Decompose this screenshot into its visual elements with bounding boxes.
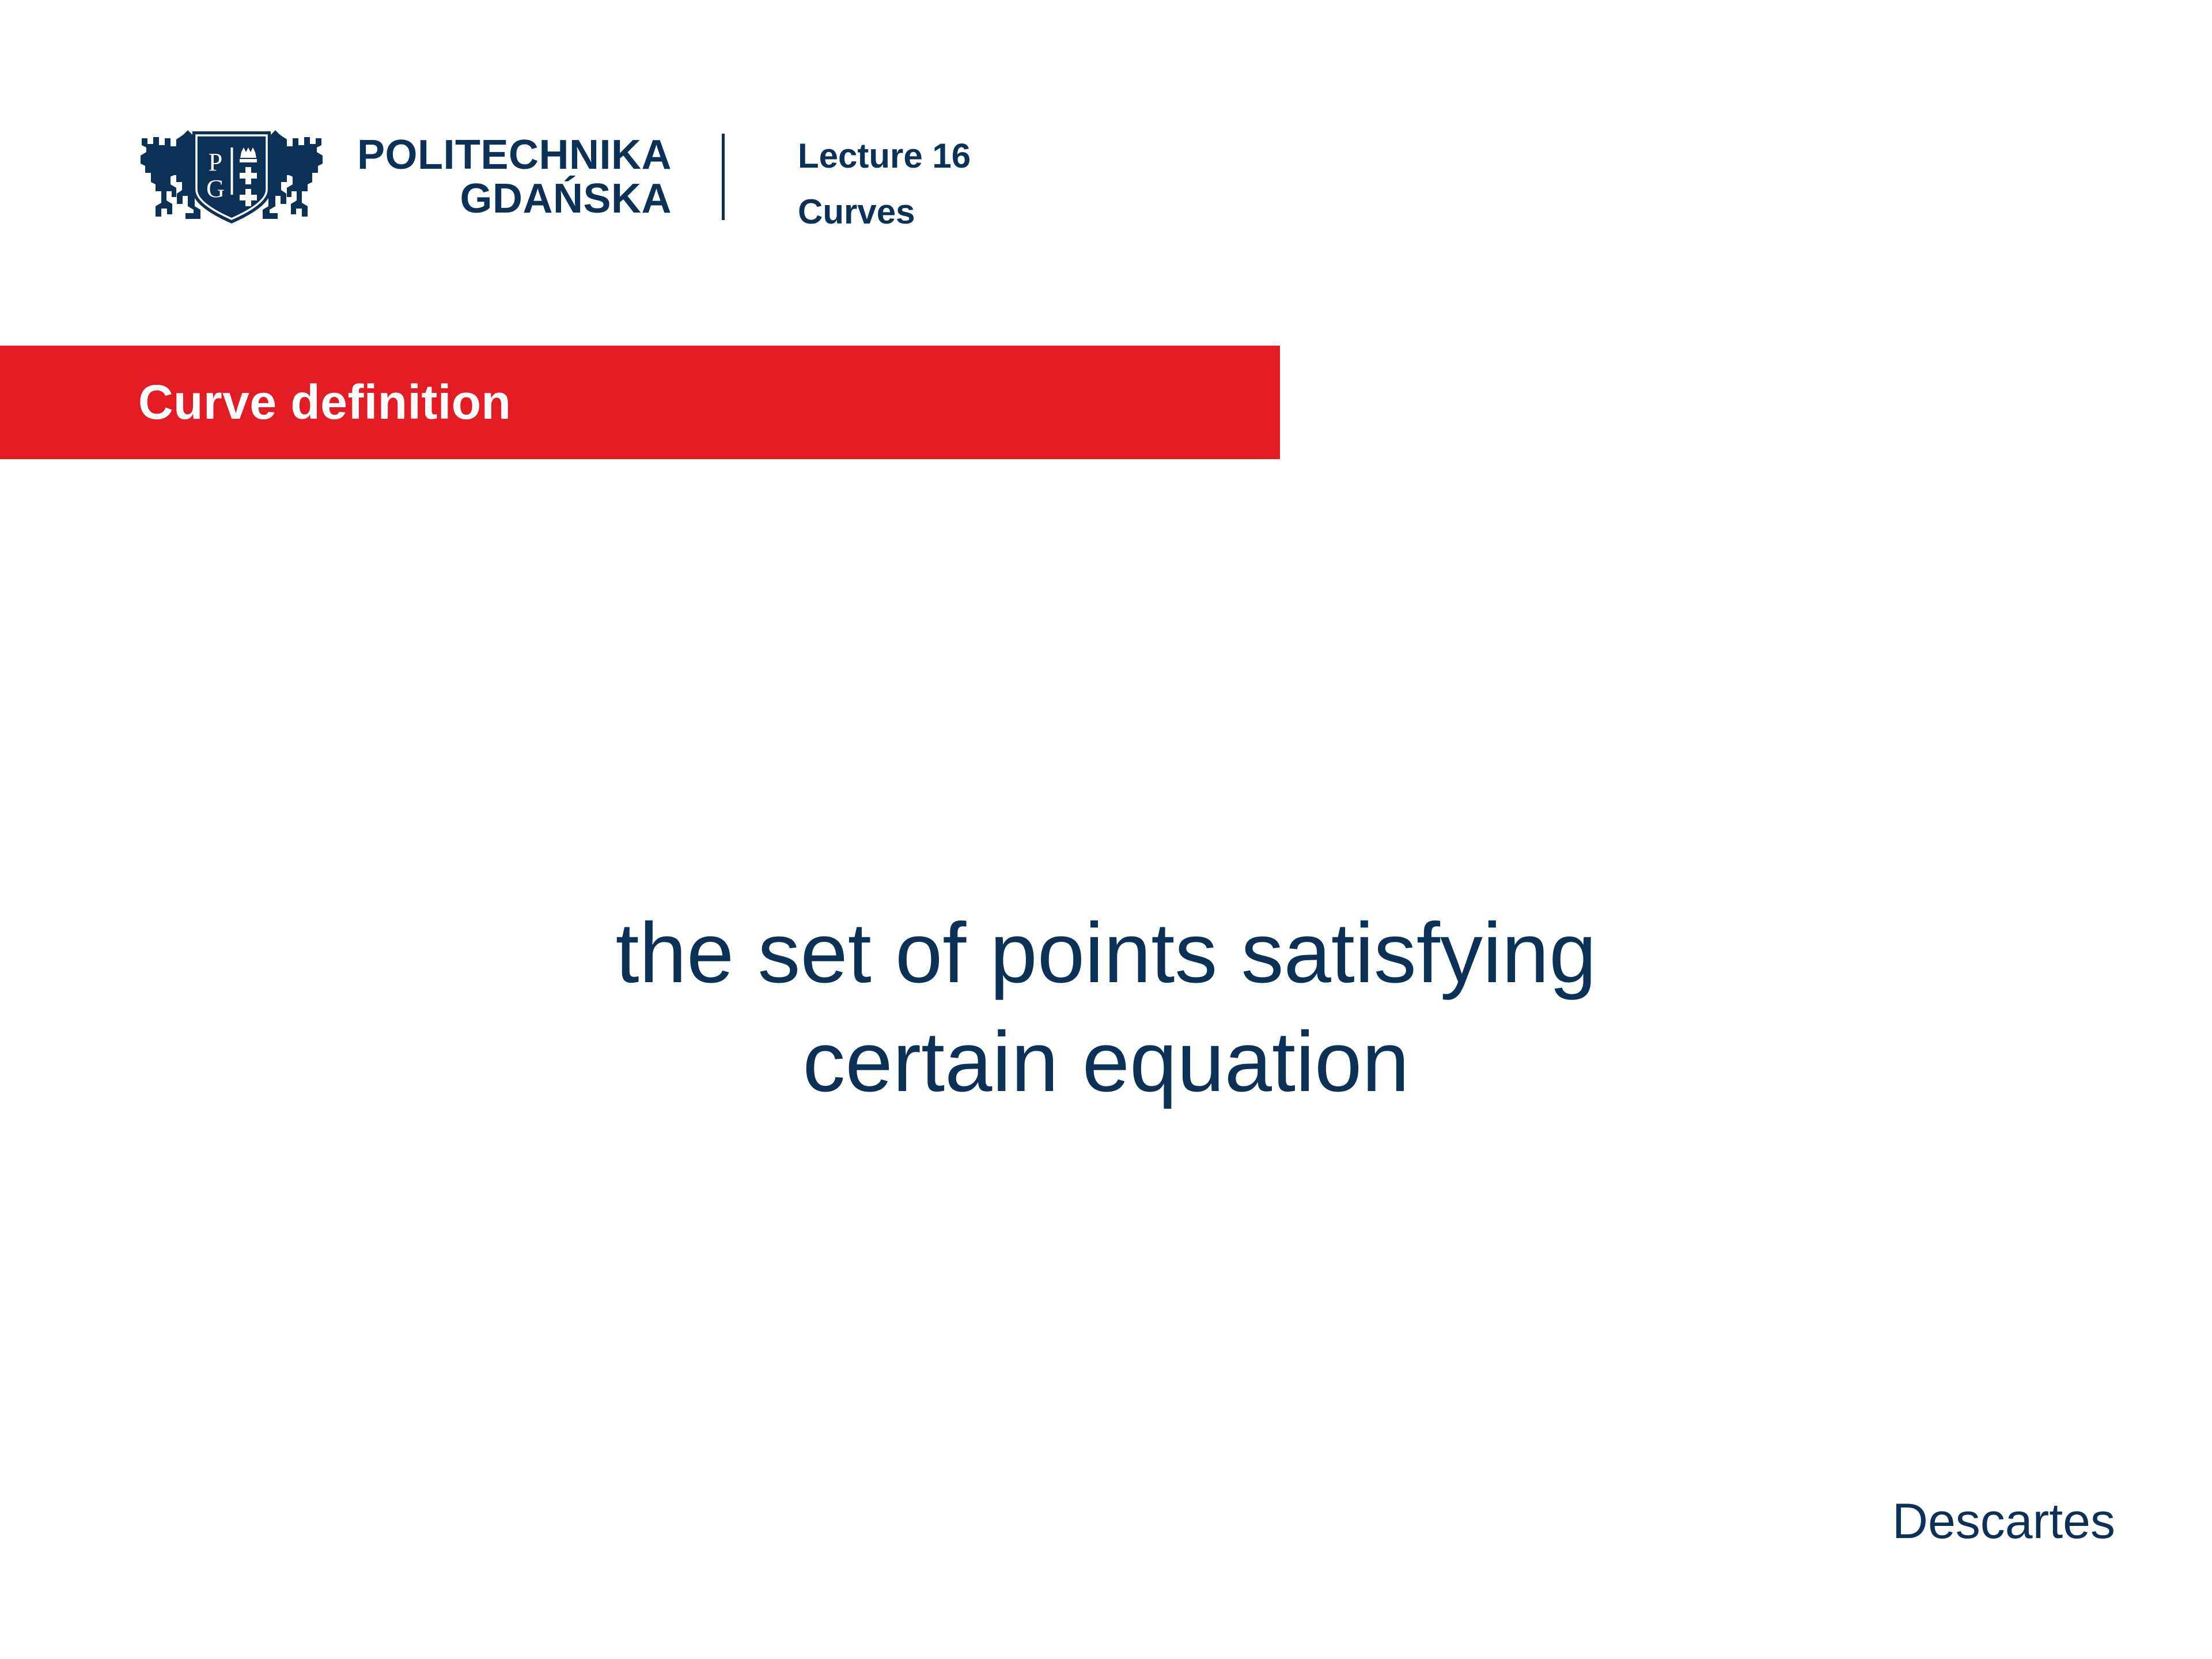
wordmark-line-1: POLITECHNIKA bbox=[357, 133, 672, 177]
shield-letter-p: P bbox=[209, 148, 222, 176]
pg-crest-logo: P G bbox=[128, 122, 335, 232]
shield-letter-g: G bbox=[206, 175, 225, 203]
university-wordmark: POLITECHNIKA GDAŃSKA bbox=[357, 133, 672, 221]
lecture-topic: Curves bbox=[798, 184, 971, 240]
slide-header: P G bbox=[0, 0, 2212, 323]
definition-statement: the set of points satisfying certain equ… bbox=[0, 899, 2212, 1117]
definition-line-2: certain equation bbox=[0, 1007, 2212, 1116]
wordmark-line-2: GDAŃSKA bbox=[357, 177, 672, 221]
lecture-number: Lecture 16 bbox=[798, 128, 971, 184]
lecture-title-block: Lecture 16 Curves bbox=[798, 128, 971, 240]
university-branding: P G bbox=[128, 122, 672, 232]
header-vertical-divider bbox=[722, 134, 725, 220]
attribution-text: Descartes bbox=[1892, 1497, 2115, 1546]
lecture-slide: P G bbox=[0, 0, 2212, 1659]
section-title-text: Curve definition bbox=[138, 346, 511, 459]
slide-body: the set of points satisfying certain equ… bbox=[0, 899, 2212, 1417]
section-title-banner: Curve definition bbox=[0, 346, 1280, 459]
definition-line-1: the set of points satisfying bbox=[0, 899, 2212, 1007]
